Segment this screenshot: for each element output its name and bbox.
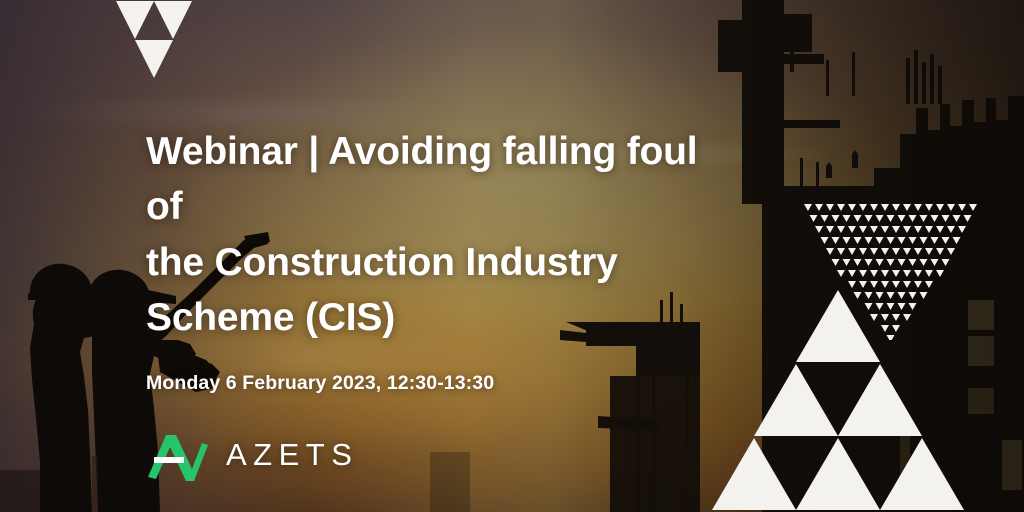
event-date-time: Monday 6 February 2023, 12:30-13:30 bbox=[146, 372, 706, 395]
headline-line-2: the Construction Industry bbox=[146, 241, 618, 284]
azets-chevron-icon bbox=[146, 429, 208, 481]
banner-content: Webinar | Avoiding falling foul of the C… bbox=[146, 124, 706, 481]
sierpinski-triangle-icon bbox=[700, 288, 1024, 512]
page-title: Webinar | Avoiding falling foul of the C… bbox=[146, 124, 706, 346]
headline-line-3: Scheme (CIS) bbox=[146, 296, 395, 339]
azets-wordmark: AZETS bbox=[226, 437, 358, 473]
headline-line-1: Webinar | Avoiding falling foul of bbox=[146, 130, 697, 228]
azets-logo: AZETS bbox=[146, 429, 706, 481]
sierpinski-triangle-inverted-icon bbox=[116, 0, 192, 78]
webinar-banner: Webinar | Avoiding falling foul of the C… bbox=[0, 0, 1024, 512]
